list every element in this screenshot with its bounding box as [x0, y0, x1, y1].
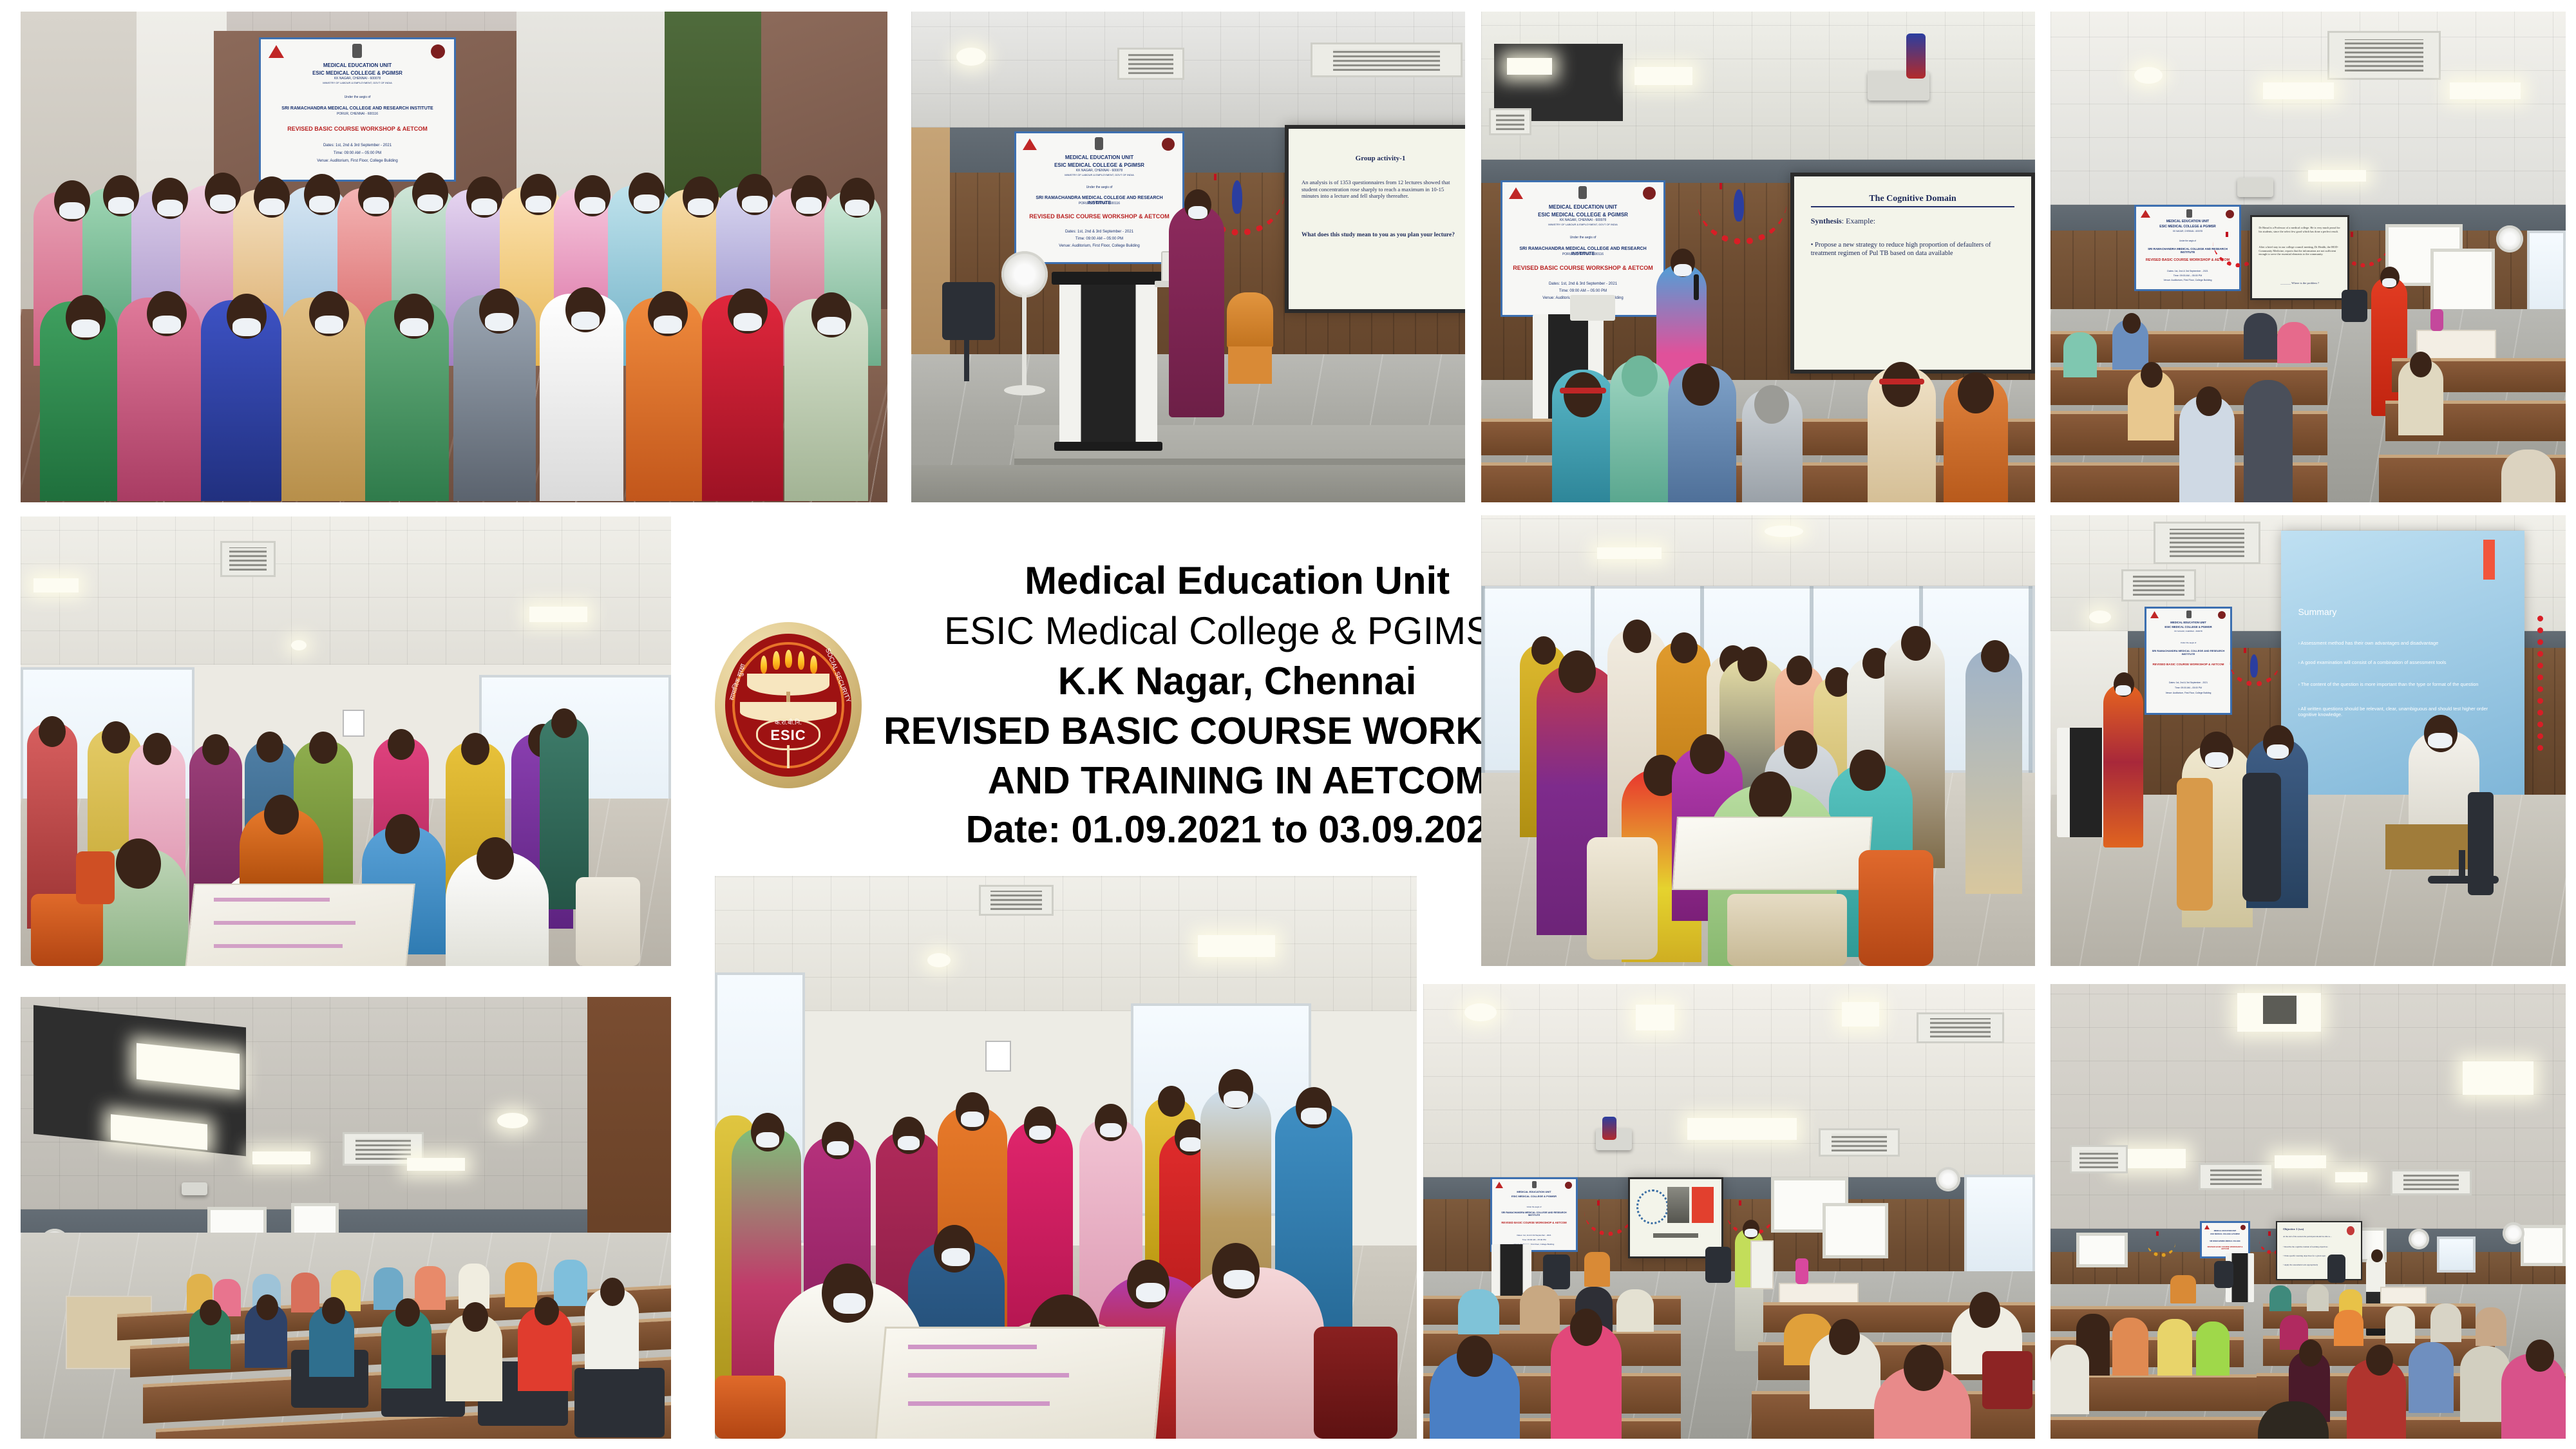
title-line-2: ESIC Medical College & PGIMSR, — [944, 606, 1530, 656]
event-banner-on-wall: MEDICAL EDUCATION UNIT ESIC MEDICAL COLL… — [1014, 131, 1184, 264]
photo-lecture-hall-right: MEDICAL EDUCATION UNIT ESIC MEDICAL COLL… — [2050, 984, 2566, 1439]
chart-paper-table — [1672, 817, 1873, 890]
photo-small-group-discussion-left — [21, 516, 671, 966]
photo-podium-group-activity: MEDICAL EDUCATION UNIT ESIC MEDICAL COLL… — [911, 12, 1465, 502]
flipchart-whiteboard — [1823, 1203, 1888, 1258]
center-title-panel: क.रा.बी.नि. ESIC सामाजिक सुरक्षा SOCIAL … — [715, 554, 1475, 857]
title-line-1: Medical Education Unit — [1025, 556, 1450, 606]
photo-small-group-discussion-right — [1481, 515, 2035, 966]
group-photo-participants: MEDICAL EDUCATION UNIT ESIC MEDICAL COLL… — [21, 12, 887, 502]
photo-summary-session: MEDICAL EDUCATION UNIT ESIC MEDICAL COLL… — [2050, 515, 2566, 966]
chart-paper-table — [875, 1327, 1166, 1439]
esic-logo: क.रा.बी.नि. ESIC सामाजिक सुरक्षा SOCIAL … — [715, 622, 862, 788]
ceiling-ac-unit — [2327, 31, 2441, 80]
title-line-6-date: Date: 01.09.2021 to 03.09.2021 — [966, 805, 1509, 855]
title-line-5: AND TRAINING IN AETCOM — [988, 756, 1487, 806]
photo-lecture-hall-center-right: MEDICAL EDUCATION UNIT ESIC MEDICAL COLL… — [1423, 984, 2035, 1439]
title-line-3: K.K Nagar, Chennai — [1058, 656, 1417, 706]
esic-logo-acronym: ESIC — [715, 727, 862, 744]
projection-screen: The Cognitive Domain Synthesis: Example:… — [1790, 173, 2035, 374]
chart-paper-table — [185, 884, 415, 966]
podium — [1059, 279, 1157, 447]
projection-screen: Group activity-1 An analysis is of 1353 … — [1285, 125, 1465, 313]
presenter — [1169, 205, 1224, 417]
projection-screen: Objective 1 (wo) At the end of the sessi… — [2276, 1221, 2362, 1280]
esic-logo-hindi-acronym: क.रा.बी.नि. — [715, 717, 862, 726]
projection-screen: Summary › Assessment method has their ow… — [2281, 531, 2524, 797]
photo-group-work-center — [715, 876, 1417, 1439]
photo-collage: MEDICAL EDUCATION UNIT ESIC MEDICAL COLL… — [0, 0, 2576, 1449]
photo-classroom-wide-session: MEDICAL EDUCATION UNIT ESIC MEDICAL COLL… — [2050, 12, 2566, 502]
photo-lecture-hall-left — [21, 997, 671, 1439]
photo-cognitive-domain-session: MEDICAL EDUCATION UNIT ESIC MEDICAL COLL… — [1481, 12, 2035, 502]
projection-screen: Dr Bimal is a Professor of a medical col… — [2250, 215, 2349, 300]
